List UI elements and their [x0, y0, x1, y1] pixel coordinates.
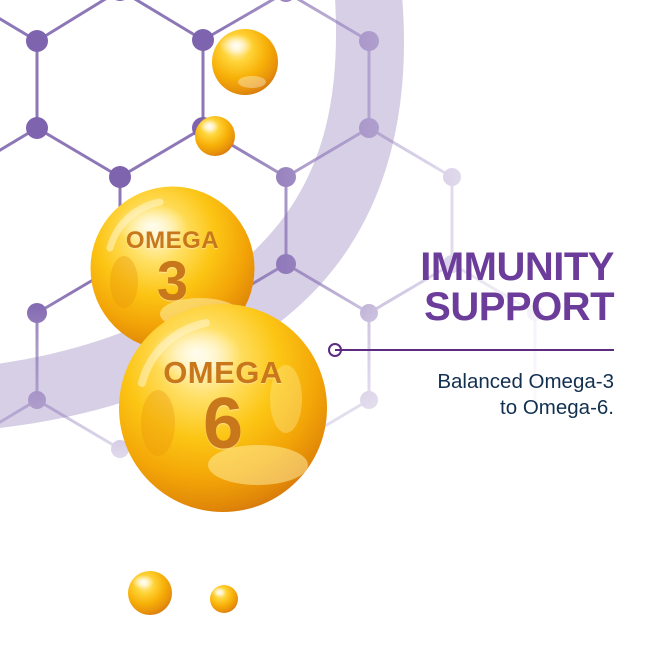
- text-block: IMMUNITY SUPPORT Balanced Omega-3 to Ome…: [328, 248, 614, 421]
- subtitle: Balanced Omega-3 to Omega-6.: [328, 369, 614, 421]
- divider: [328, 339, 614, 361]
- droplet-bottom-large: [128, 571, 172, 615]
- divider-line: [335, 349, 614, 351]
- subtitle-line-2: to Omega-6.: [328, 395, 614, 421]
- headline-line-2: SUPPORT: [328, 288, 614, 328]
- page-title: IMMUNITY SUPPORT: [328, 248, 614, 327]
- droplet-top-large: [212, 29, 278, 95]
- subtitle-line-1: Balanced Omega-3: [328, 369, 614, 395]
- omega-6-sphere-icon: [118, 303, 328, 513]
- headline-line-1: IMMUNITY: [328, 248, 614, 288]
- droplet-top-small: [195, 116, 235, 156]
- omega-immunity-banner: OMEGA 3: [0, 0, 650, 650]
- omega-6-bubble: OMEGA 6: [118, 303, 328, 513]
- droplet-bottom-small: [210, 585, 238, 613]
